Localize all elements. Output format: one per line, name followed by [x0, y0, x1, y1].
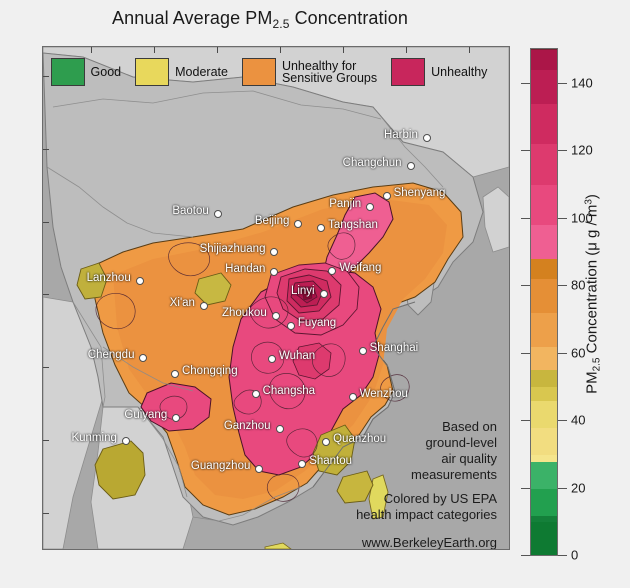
colorbar-band — [531, 461, 557, 489]
x-axis-tick-top — [406, 47, 407, 53]
colorbar-tick-label: 120 — [571, 143, 593, 158]
city-label: Shanghai — [370, 342, 419, 354]
city-dot-icon — [172, 414, 180, 422]
y-axis-tick-inner — [43, 222, 49, 223]
city-label: Shantou — [309, 455, 352, 467]
colorbar-band — [531, 400, 557, 428]
city-label: Linyi — [291, 285, 315, 297]
colorbar-tick-right — [558, 218, 567, 219]
y-axis-tick-inner — [43, 76, 49, 77]
city-dot-icon — [366, 203, 374, 211]
city-dot-icon — [359, 347, 367, 355]
city-label: Wuhan — [279, 350, 315, 362]
city-label: Shenyang — [394, 187, 446, 199]
x-axis-tick-top — [217, 47, 218, 53]
colorbar-tick-label: 0 — [571, 548, 578, 563]
city-label: Tangshan — [328, 219, 378, 231]
x-axis-tick-top — [469, 47, 470, 53]
colorbar-tick — [521, 353, 530, 354]
city-dot-icon — [276, 425, 284, 433]
x-axis-tick-top — [91, 47, 92, 53]
city-dot-icon — [171, 370, 179, 378]
city-dot-icon — [298, 460, 306, 468]
x-axis-tick — [154, 549, 155, 550]
page-title: Annual Average PM2.5 Concentration — [0, 8, 520, 29]
city-label: Changchun — [343, 157, 402, 169]
city-dot-icon — [214, 210, 222, 218]
colorbar-band — [531, 184, 557, 225]
city-dot-icon — [270, 268, 278, 276]
city-dot-icon — [322, 438, 330, 446]
colorbar-tick-right — [558, 83, 567, 84]
city-dot-icon — [268, 355, 276, 363]
city-dot-icon — [122, 437, 130, 445]
colorbar-tick-right — [558, 420, 567, 421]
city-label: Baotou — [172, 205, 208, 217]
city-label: Chongqing — [182, 365, 238, 377]
colorbar-band — [531, 521, 557, 556]
cbar-label-unit: μ g / m — [584, 205, 601, 251]
y-axis-tick-inner — [43, 149, 49, 150]
colorbar-band — [531, 488, 557, 516]
x-axis-tick — [469, 549, 470, 550]
x-axis-tick-top — [280, 47, 281, 53]
figure-root: Annual Average PM2.5 Concentration — [0, 0, 630, 588]
colorbar-band — [531, 49, 557, 70]
city-dot-icon — [294, 220, 302, 228]
city-label: Shijiazhuang — [200, 243, 266, 255]
x-axis-tick-top — [154, 47, 155, 53]
colorbar-band — [531, 103, 557, 144]
colorbar-tick-right — [558, 555, 567, 556]
city-label: Xi'an — [170, 297, 195, 309]
colorbar-band — [531, 454, 557, 462]
x-axis-tick — [406, 549, 407, 550]
colorbar-tick — [521, 285, 530, 286]
city-label: Fuyang — [298, 317, 336, 329]
city-label: Changsha — [263, 385, 315, 397]
city-dot-icon — [320, 290, 328, 298]
colorbar-band — [531, 427, 557, 455]
title-pre: Annual Average PM — [112, 8, 272, 28]
city-label: Handan — [225, 263, 265, 275]
colorbar-band — [531, 258, 557, 279]
colorbar-tick — [521, 150, 530, 151]
city-label: Chengdu — [88, 349, 135, 361]
colorbar-tick-right — [558, 488, 567, 489]
annotation-basis: Based on ground-level air quality measur… — [411, 419, 497, 483]
city-label: Wenzhou — [360, 388, 408, 400]
map-frame[interactable]: Good Moderate Unhealthy for Sensitive Gr… — [42, 46, 510, 550]
title-post: Concentration — [289, 8, 407, 28]
colorbar-band — [531, 369, 557, 387]
city-label: Weifang — [339, 262, 381, 274]
colorbar-tick-right — [558, 285, 567, 286]
city-dot-icon — [317, 224, 325, 232]
cbar-label-pre: PM — [584, 371, 601, 394]
city-dot-icon — [383, 192, 391, 200]
cbar-label-sup: 3 — [584, 199, 595, 205]
colorbar-gradient — [530, 48, 558, 556]
title-subscript: 2.5 — [273, 17, 290, 31]
annotation-epa: Colored by US EPA health impact categori… — [356, 491, 497, 523]
x-axis-tick-top — [343, 47, 344, 53]
city-label: Guiyang — [124, 409, 167, 421]
colorbar-band — [531, 143, 557, 184]
city-label: Quanzhou — [333, 433, 386, 445]
city-dot-icon — [139, 354, 147, 362]
city-dot-icon — [255, 465, 263, 473]
city-dot-icon — [407, 162, 415, 170]
colorbar-tick-right — [558, 353, 567, 354]
colorbar-tick — [521, 83, 530, 84]
y-axis-tick-inner — [43, 294, 49, 295]
city-label: Zhoukou — [222, 307, 267, 319]
city-label: Lanzhou — [87, 272, 131, 284]
colorbar-band — [531, 312, 557, 347]
city-dot-icon — [272, 312, 280, 320]
city-dot-icon — [349, 393, 357, 401]
city-label: Kunming — [71, 432, 116, 444]
city-label: Harbin — [384, 129, 418, 141]
annotation-url: www.BerkeleyEarth.org — [362, 535, 497, 550]
y-axis-tick-inner — [43, 367, 49, 368]
city-dot-icon — [270, 248, 278, 256]
city-dot-icon — [252, 390, 260, 398]
colorbar[interactable]: 020406080100120140 — [530, 48, 558, 556]
colorbar-tick-label: 140 — [571, 75, 593, 90]
x-axis-tick — [217, 549, 218, 550]
x-axis-tick — [280, 549, 281, 550]
city-dot-icon — [423, 134, 431, 142]
colorbar-tick-label: 40 — [571, 413, 585, 428]
x-axis-tick — [343, 549, 344, 550]
city-label: Beijing — [255, 215, 290, 227]
colorbar-band — [531, 69, 557, 104]
cbar-label-sub: 2.5 — [592, 358, 603, 372]
colorbar-band — [531, 278, 557, 313]
colorbar-band — [531, 224, 557, 259]
colorbar-tick-label: 20 — [571, 480, 585, 495]
city-dot-icon — [200, 302, 208, 310]
colorbar-tick — [521, 488, 530, 489]
colorbar-tick — [521, 555, 530, 556]
colorbar-tick-right — [558, 150, 567, 151]
city-label: Ganzhou — [224, 420, 271, 432]
colorbar-band — [531, 515, 557, 523]
city-dot-icon — [287, 322, 295, 330]
cbar-label-mid: Concentration ( — [584, 251, 601, 358]
y-axis-tick-inner — [43, 440, 49, 441]
colorbar-axis-label: PM2.5 Concentration (μ g / m3) — [584, 194, 601, 394]
city-dot-icon — [328, 267, 336, 275]
colorbar-tick — [521, 420, 530, 421]
x-axis-tick — [91, 549, 92, 550]
city-label: Guangzhou — [191, 460, 250, 472]
city-label: Panjin — [329, 198, 361, 210]
colorbar-band — [531, 386, 557, 400]
colorbar-band — [531, 346, 557, 371]
y-axis-tick-inner — [43, 513, 49, 514]
colorbar-tick — [521, 218, 530, 219]
city-dot-icon — [136, 277, 144, 285]
